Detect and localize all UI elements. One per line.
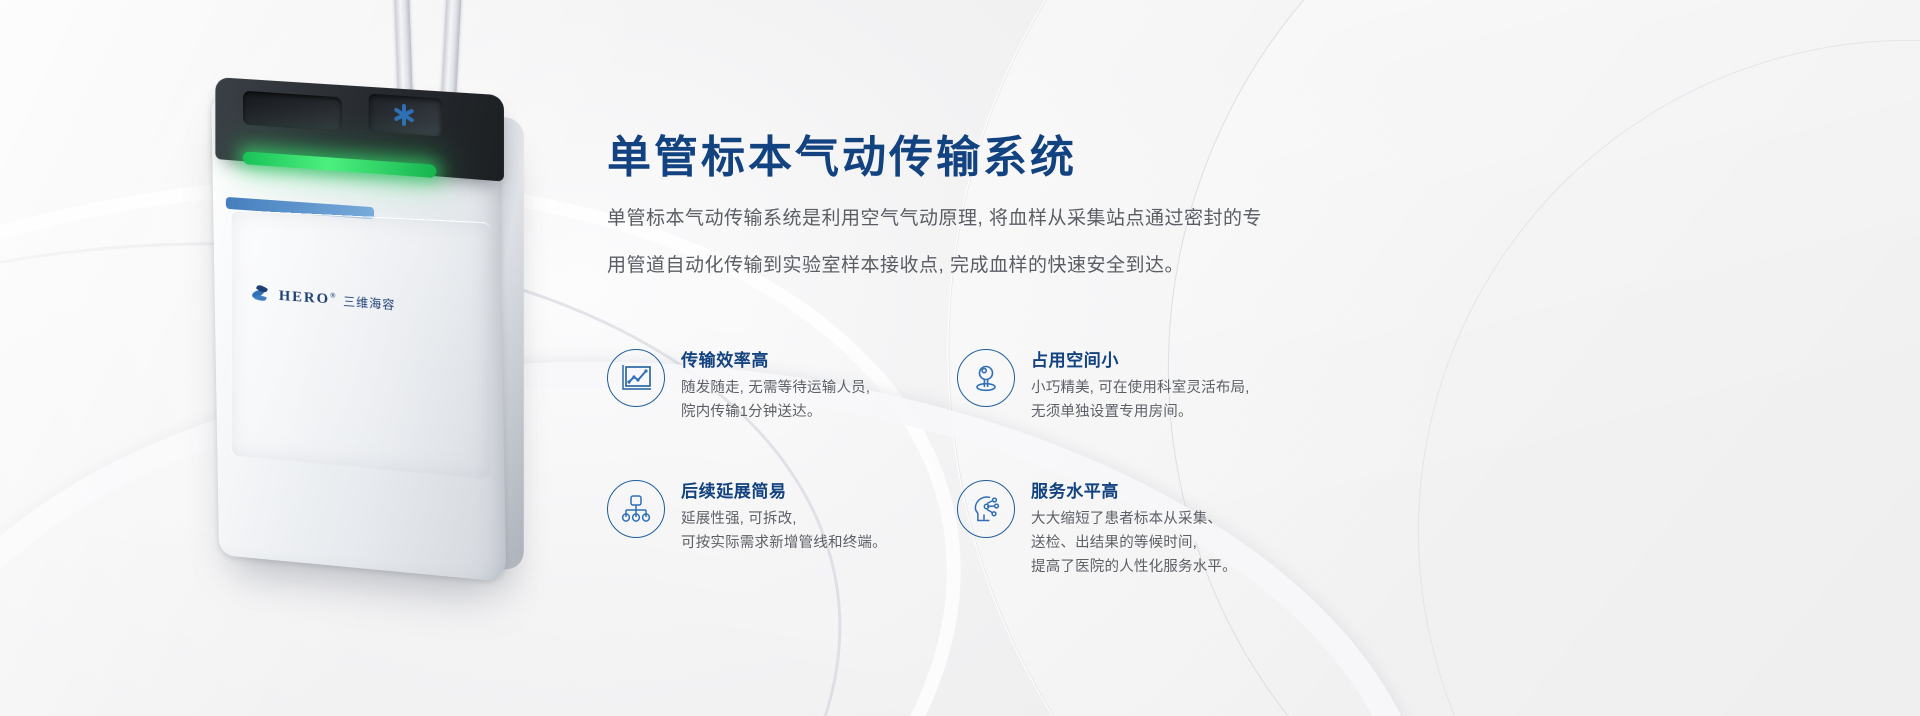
feature-item: 后续延展简易 延展性强, 可拆改, 可按实际需求新增管线和终端。 <box>607 476 957 579</box>
brand-name-cn: 三维海容 <box>343 292 395 313</box>
feature-row-2: 后续延展简易 延展性强, 可拆改, 可按实际需求新增管线和终端。 <box>607 476 1307 579</box>
product-banner: HERO® 三维海容 单管标本气动传输系统 单管标本气动传输系统是利用空气气动原… <box>0 0 1920 716</box>
page-title: 单管标本气动传输系统 <box>607 121 1077 185</box>
fan-icon <box>390 101 418 129</box>
head-circuit-icon <box>957 480 1015 538</box>
feature-heading: 后续延展简易 <box>681 477 887 502</box>
network-tree-icon <box>607 480 665 538</box>
feature-item: 服务水平高 大大缩短了患者标本从采集、 送检、出结果的等候时间, 提高了医院的人… <box>957 476 1307 579</box>
feature-description: 随发随走, 无需等待运输人员, 院内传输1分钟送达。 <box>681 376 870 424</box>
space-pin-icon <box>957 349 1015 407</box>
feature-item: 占用空间小 小巧精美, 可在使用科室灵活布局, 无须单独设置专用房间。 <box>957 345 1307 424</box>
feature-description: 延展性强, 可拆改, 可按实际需求新增管线和终端。 <box>681 507 887 555</box>
feature-heading: 服务水平高 <box>1031 477 1237 502</box>
device-specimen-slot <box>243 91 342 132</box>
feature-grid: 传输效率高 随发随走, 无需等待运输人员, 院内传输1分钟送达。 <box>607 345 1307 579</box>
feature-row-1: 传输效率高 随发随走, 无需等待运输人员, 院内传输1分钟送达。 <box>607 345 1307 424</box>
feature-heading: 传输效率高 <box>681 346 870 371</box>
feature-heading: 占用空间小 <box>1031 346 1249 371</box>
device-front-panel <box>231 210 491 480</box>
chart-line-icon <box>607 349 665 407</box>
feature-description: 大大缩短了患者标本从采集、 送检、出结果的等候时间, 提高了医院的人性化服务水平… <box>1031 507 1237 579</box>
feature-item: 传输效率高 随发随走, 无需等待运输人员, 院内传输1分钟送达。 <box>607 345 957 424</box>
brand-mark-icon <box>252 285 273 304</box>
feature-text: 后续延展简易 延展性强, 可拆改, 可按实际需求新增管线和终端。 <box>681 476 887 555</box>
product-image: HERO® 三维海容 <box>150 0 570 590</box>
brand-name-en: HERO® <box>279 287 337 308</box>
page-description: 单管标本气动传输系统是利用空气气动原理, 将血样从采集站点通过密封的专用管道自动… <box>607 195 1267 289</box>
feature-text: 占用空间小 小巧精美, 可在使用科室灵活布局, 无须单独设置专用房间。 <box>1031 345 1249 424</box>
feature-description: 小巧精美, 可在使用科室灵活布局, 无须单独设置专用房间。 <box>1031 376 1249 424</box>
feature-text: 服务水平高 大大缩短了患者标本从采集、 送检、出结果的等候时间, 提高了医院的人… <box>1031 476 1237 579</box>
content-column: 单管标本气动传输系统 单管标本气动传输系统是利用空气气动原理, 将血样从采集站点… <box>607 0 1787 716</box>
feature-text: 传输效率高 随发随走, 无需等待运输人员, 院内传输1分钟送达。 <box>681 345 870 424</box>
